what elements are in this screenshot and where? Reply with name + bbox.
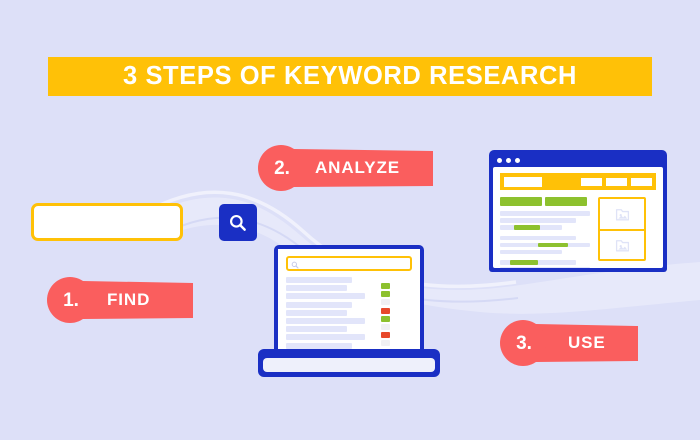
step-label: ANALYZE: [315, 145, 400, 191]
result-row-inner: [286, 285, 412, 291]
result-text-bar: [286, 318, 365, 324]
result-text-bar: [286, 326, 347, 332]
browser-menu-item[interactable]: [581, 178, 602, 186]
laptop-result-row: [286, 334, 412, 340]
result-row-inner: [286, 318, 412, 324]
content-paragraph: [500, 236, 590, 255]
result-text-bar: [286, 302, 352, 308]
browser-menu-item[interactable]: [631, 178, 652, 186]
content-column-main: [500, 197, 590, 268]
browser-viewport: [493, 167, 663, 268]
keyword-highlight: [510, 260, 538, 265]
step-label: USE: [568, 320, 606, 366]
content-text-line: [500, 267, 590, 268]
keyword-heading-block: [500, 197, 542, 206]
step-badge-use[interactable]: 3. USE: [500, 320, 638, 366]
laptop-result-row: [286, 343, 412, 349]
step-number: 1.: [61, 291, 79, 310]
content-text-line: [500, 211, 590, 216]
image-placeholder-icon: [615, 239, 630, 252]
result-text-bar: [286, 277, 352, 283]
browser-titlebar: [493, 154, 663, 167]
keyword-heading-block: [545, 197, 587, 206]
laptop-lid: [274, 245, 424, 354]
result-row-inner: [286, 343, 412, 349]
window-control-dot[interactable]: [497, 158, 502, 163]
laptop-result-row: [286, 326, 412, 332]
browser-menu-items: [581, 178, 652, 186]
result-row-inner: [286, 310, 412, 316]
search-button[interactable]: [219, 204, 257, 241]
result-row-inner: [286, 293, 412, 299]
keyword-headings: [500, 197, 590, 206]
laptop-search-input[interactable]: [286, 256, 412, 271]
result-text-bar: [286, 343, 352, 349]
result-row-inner: [286, 302, 412, 308]
step-circle: 2.: [258, 145, 304, 191]
thumbnail-box: [600, 199, 644, 229]
laptop-base: [258, 349, 440, 377]
keyword-highlight: [538, 243, 568, 248]
result-row-inner: [286, 334, 412, 340]
step-circle: 1.: [47, 277, 93, 323]
laptop-result-row: [286, 277, 412, 283]
result-text-bar: [286, 334, 365, 340]
step-number: 2.: [272, 159, 290, 178]
search-icon: [291, 261, 299, 269]
laptop-screen: [278, 249, 420, 350]
page-title: 3 STEPS OF KEYWORD RESEARCH: [123, 64, 577, 90]
thumbnail-stack: [598, 197, 646, 261]
result-text-bar: [286, 293, 365, 299]
laptop-keyboard-deck: [263, 358, 435, 372]
content-paragraphs: [500, 211, 590, 268]
thumbnail-box: [600, 229, 644, 259]
infographic-canvas: 3 STEPS OF KEYWORD RESEARCH 1. FIND 2. A…: [0, 0, 700, 440]
search-input[interactable]: [31, 203, 183, 241]
step-badge-analyze[interactable]: 2. ANALYZE: [258, 145, 433, 191]
step-circle: 3.: [500, 320, 546, 366]
content-column-sidebar: [598, 197, 646, 268]
laptop-result-row: [286, 285, 412, 291]
result-row-inner: [286, 326, 412, 332]
browser-window: [489, 150, 667, 272]
content-paragraph: [500, 260, 590, 268]
search-icon: [228, 213, 248, 233]
result-row-inner: [286, 277, 412, 283]
keyword-highlight: [514, 225, 540, 230]
laptop-results-list: [286, 277, 412, 349]
laptop-result-row: [286, 293, 412, 299]
result-text-bar: [286, 310, 347, 316]
browser-url-bar[interactable]: [504, 177, 542, 187]
browser-navbar: [500, 173, 656, 190]
page-content: [500, 197, 656, 268]
result-text-bar: [286, 285, 347, 291]
content-text-line: [500, 218, 576, 223]
content-text-line: [500, 236, 576, 241]
content-paragraph: [500, 211, 590, 230]
content-text-line: [500, 225, 562, 230]
laptop-result-row: [286, 318, 412, 324]
laptop-result-row: [286, 302, 412, 308]
image-placeholder-icon: [615, 208, 630, 221]
content-text-line: [500, 243, 590, 248]
step-number: 3.: [514, 334, 532, 353]
content-text-line: [500, 250, 562, 255]
step-badge-find[interactable]: 1. FIND: [47, 277, 193, 323]
laptop-result-row: [286, 310, 412, 316]
laptop-illustration: [258, 245, 440, 377]
window-control-dot[interactable]: [506, 158, 511, 163]
step-label: FIND: [107, 277, 150, 323]
search-widget: [31, 203, 226, 241]
window-control-dot[interactable]: [515, 158, 520, 163]
content-text-line: [500, 260, 576, 265]
page-title-banner: 3 STEPS OF KEYWORD RESEARCH: [48, 57, 652, 96]
browser-menu-item[interactable]: [606, 178, 627, 186]
